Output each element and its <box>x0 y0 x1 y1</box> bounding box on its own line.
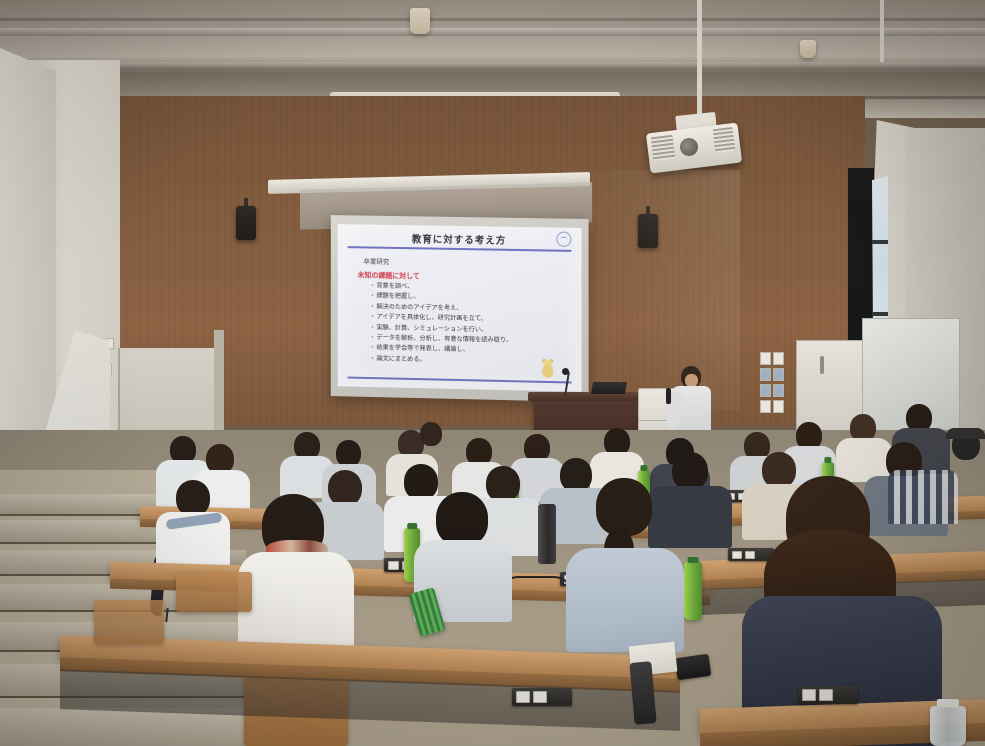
ceiling-beam <box>0 62 985 70</box>
audience-head <box>560 458 592 492</box>
ceiling-rail <box>0 18 985 21</box>
light-switch[interactable] <box>773 400 784 413</box>
audience-head <box>486 466 520 502</box>
audience-head <box>762 452 796 488</box>
outlet-socket[interactable] <box>388 561 399 570</box>
light-switch[interactable] <box>773 384 784 397</box>
downlight-fixture <box>410 8 430 34</box>
bottle-cap <box>824 457 831 463</box>
outlet-socket[interactable] <box>802 689 816 701</box>
slide-subtitle: 卒業研究 <box>363 255 389 265</box>
audience-head <box>420 422 442 446</box>
bottle-cap <box>688 557 699 563</box>
slide-title: 教育に対する考え方 <box>338 230 582 248</box>
bear-body <box>542 365 553 378</box>
ceiling-hanger-rod <box>880 0 884 62</box>
switch-row[interactable] <box>746 384 798 397</box>
bottle-cap <box>937 699 959 707</box>
projector-vent <box>713 127 736 153</box>
slide-bullet: 論文にまとめる。 <box>371 354 512 367</box>
left-wall-speaker <box>236 206 256 240</box>
audience-head <box>328 470 362 506</box>
audience-body-suit <box>648 486 732 548</box>
black-thermos <box>538 504 556 564</box>
slide-bullet-list: 背景を調べ、 課題を把握し、 解決のためのアイデアを考え、 アイデアを具体化し、… <box>371 281 512 367</box>
bottle-cap <box>640 465 647 471</box>
audience-head <box>176 480 210 516</box>
outlet-socket[interactable] <box>533 691 547 703</box>
smartphone[interactable] <box>675 654 712 681</box>
audience-head <box>672 452 708 490</box>
switch-row[interactable] <box>746 352 798 365</box>
woman-ponytail-head <box>596 478 652 536</box>
audience-head <box>404 464 438 500</box>
window-mullion <box>872 240 888 244</box>
projector-mount-rod <box>697 0 702 118</box>
projector-vent <box>651 135 676 162</box>
right-light-switch-panel[interactable] <box>746 352 798 414</box>
bottle-cap <box>407 523 417 529</box>
desk-power-outlet[interactable] <box>798 686 858 704</box>
light-switch[interactable] <box>760 400 771 413</box>
right-wall-speaker <box>638 214 658 248</box>
outlet-socket[interactable] <box>516 691 530 703</box>
audience-head <box>336 440 361 467</box>
desk-power-outlet[interactable] <box>512 688 572 706</box>
check-shirt-pattern <box>888 470 958 524</box>
projection-screen: 教育に対する考え方 卒業研究 未知の課題に対して 背景を調べ、 課題を把握し、 … <box>331 215 589 402</box>
green-tea-bottle <box>684 562 702 620</box>
slide-rule-bottom <box>348 377 572 384</box>
switch-row[interactable] <box>746 368 798 381</box>
light-switch[interactable] <box>760 352 771 365</box>
audience-head <box>436 492 488 546</box>
cap-icon <box>946 428 985 439</box>
microphone-head-icon <box>562 368 569 375</box>
chair-back <box>94 600 164 644</box>
chair-back <box>176 572 252 612</box>
lecture-hall-photo: 教育に対する考え方 卒業研究 未知の課題に対して 背景を調べ、 課題を把握し、 … <box>0 0 985 746</box>
slide-section-heading: 未知の課題に対して <box>358 270 420 281</box>
water-bottle <box>930 706 966 746</box>
outlet-socket[interactable] <box>745 551 755 559</box>
window-mullion <box>872 312 888 316</box>
outlet-socket[interactable] <box>732 551 742 559</box>
ceiling-beam <box>0 28 985 36</box>
presentation-slide: 教育に対する考え方 卒業研究 未知の課題に対して 背景を調べ、 課題を把握し、 … <box>338 224 582 392</box>
outlet-socket[interactable] <box>819 689 833 701</box>
downlight-fixture <box>800 40 816 58</box>
light-switch[interactable] <box>760 384 771 397</box>
bear-mascot-icon <box>540 360 555 379</box>
lectern-top <box>528 392 646 401</box>
light-switch[interactable] <box>773 352 784 365</box>
presenter-laptop <box>591 382 627 394</box>
woman-ponytail-body <box>566 548 684 652</box>
light-switch[interactable] <box>760 368 771 381</box>
switch-row[interactable] <box>746 400 798 413</box>
handheld-microphone <box>666 388 671 404</box>
cabinet-handle[interactable] <box>820 356 824 374</box>
university-logo-icon <box>556 232 571 247</box>
light-switch[interactable] <box>773 368 784 381</box>
